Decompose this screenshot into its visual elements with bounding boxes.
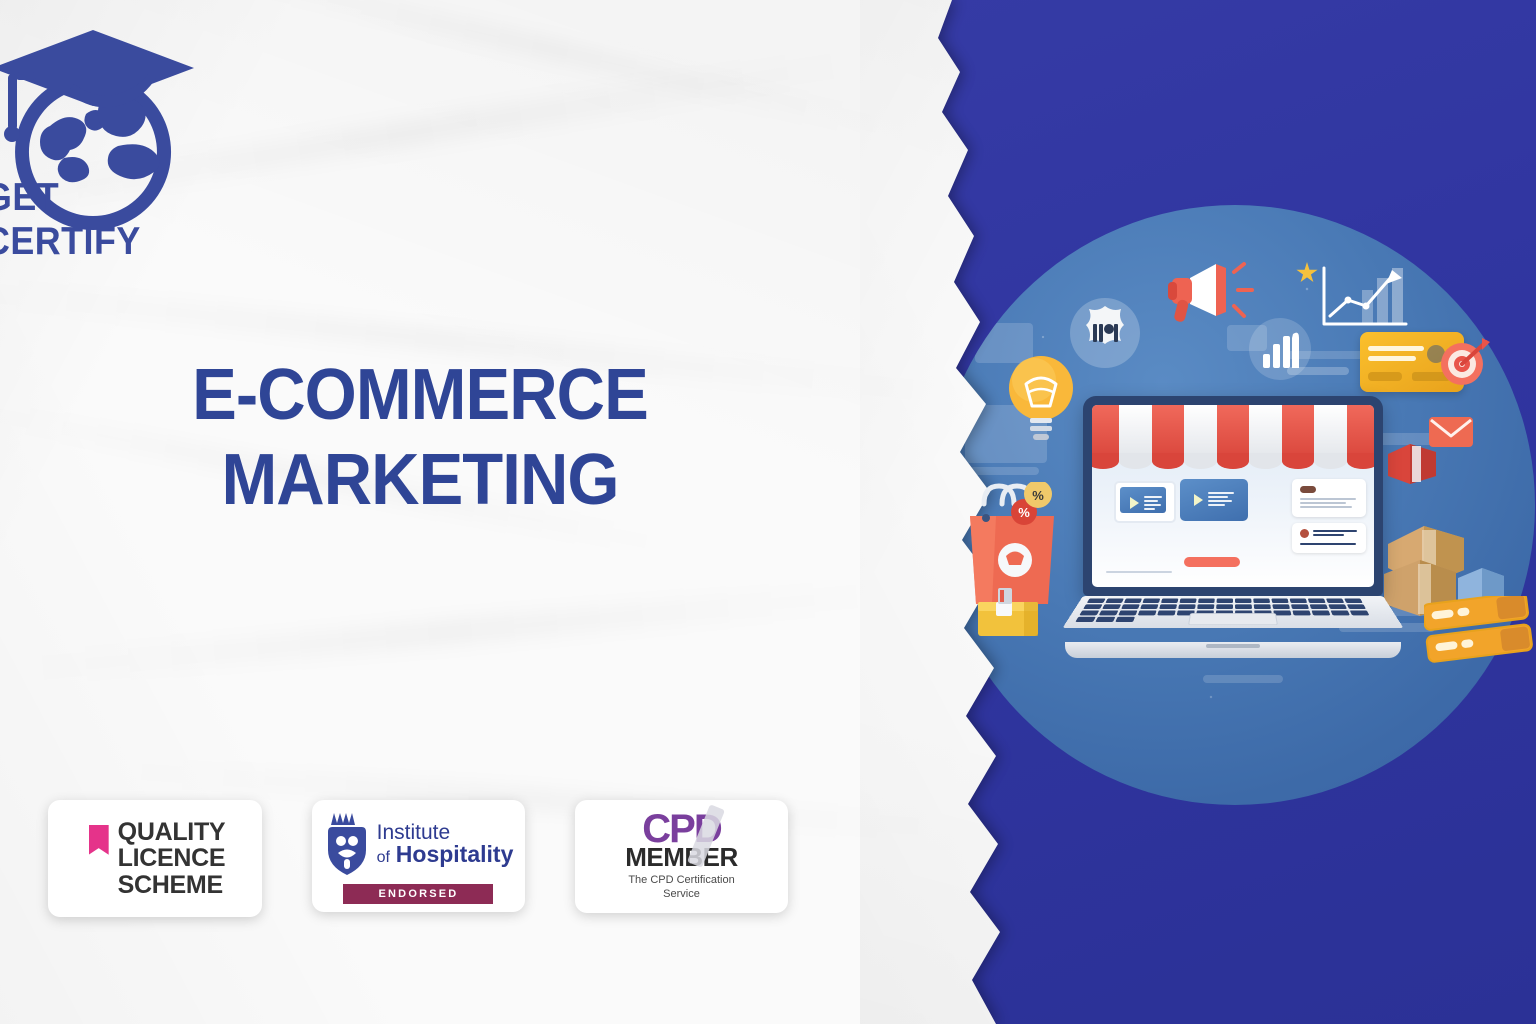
- paper-crease: [21, 583, 880, 682]
- ioh-line-1: Institute: [377, 822, 514, 843]
- bar-chart-icon: [1249, 318, 1311, 380]
- target-dart-icon: [1438, 336, 1490, 388]
- logo-text: GET CERTIFY: [0, 176, 205, 264]
- page-title: E-COMMERCE MARKETING: [141, 358, 699, 518]
- accreditation-badges: QUALITY LICENCE SCHEME: [48, 800, 788, 917]
- info-card: [1292, 479, 1366, 517]
- qls-line-2: LICENCE: [118, 845, 226, 872]
- cta-button[interactable]: [1184, 557, 1240, 567]
- laptop-storefront-icon: [1083, 396, 1383, 658]
- product-card: [1114, 481, 1176, 523]
- laptop-screen: [1092, 405, 1374, 587]
- megaphone-icon: [1160, 258, 1256, 332]
- headline-line-1: E-COMMERCE: [192, 355, 648, 435]
- growth-arrow-chart-icon: [1322, 262, 1408, 334]
- product-card: [1180, 479, 1248, 521]
- laptop-keyboard: [1062, 596, 1403, 628]
- info-card: [1292, 523, 1366, 553]
- laptop-base: [1065, 642, 1401, 658]
- ghost-bar: [1203, 675, 1283, 683]
- lightbulb-icon: [1002, 352, 1080, 448]
- ioh-hospitality: Hospitality: [396, 841, 514, 867]
- qls-line-3: SCHEME: [118, 872, 226, 899]
- bookmark-ribbon-icon: [89, 825, 109, 855]
- laptop-lid: [1083, 396, 1383, 596]
- trackpad: [1188, 613, 1278, 625]
- badge-institute-of-hospitality[interactable]: Institute of Hospitality ENDORSED: [312, 800, 525, 912]
- qls-line-1: QUALITY: [118, 819, 226, 846]
- endorsed-banner: ENDORSED: [343, 884, 493, 904]
- cpd-sub-line-2: Service: [628, 888, 734, 902]
- svg-text:%: %: [1032, 488, 1044, 503]
- awning-scallop: [1092, 453, 1374, 469]
- badge-quality-licence-scheme[interactable]: QUALITY LICENCE SCHEME: [48, 800, 262, 917]
- gift-box-icon: [972, 586, 1046, 640]
- banner-canvas: % %: [0, 0, 1536, 1024]
- badge-cpd-member[interactable]: CPD MEMBER The CPD Certification Service: [575, 800, 788, 913]
- coupon-tickets-icon: [1424, 596, 1536, 668]
- cpd-sub-line-1: The CPD Certification: [628, 874, 734, 888]
- heraldic-crest-icon: [324, 809, 370, 879]
- svg-text:%: %: [1018, 505, 1030, 520]
- shipping-boxes-icon: [1386, 440, 1438, 484]
- headline-line-2: MARKETING: [141, 443, 699, 518]
- ioh-of: of: [377, 849, 390, 866]
- cpd-line-2: MEMBER: [625, 844, 738, 870]
